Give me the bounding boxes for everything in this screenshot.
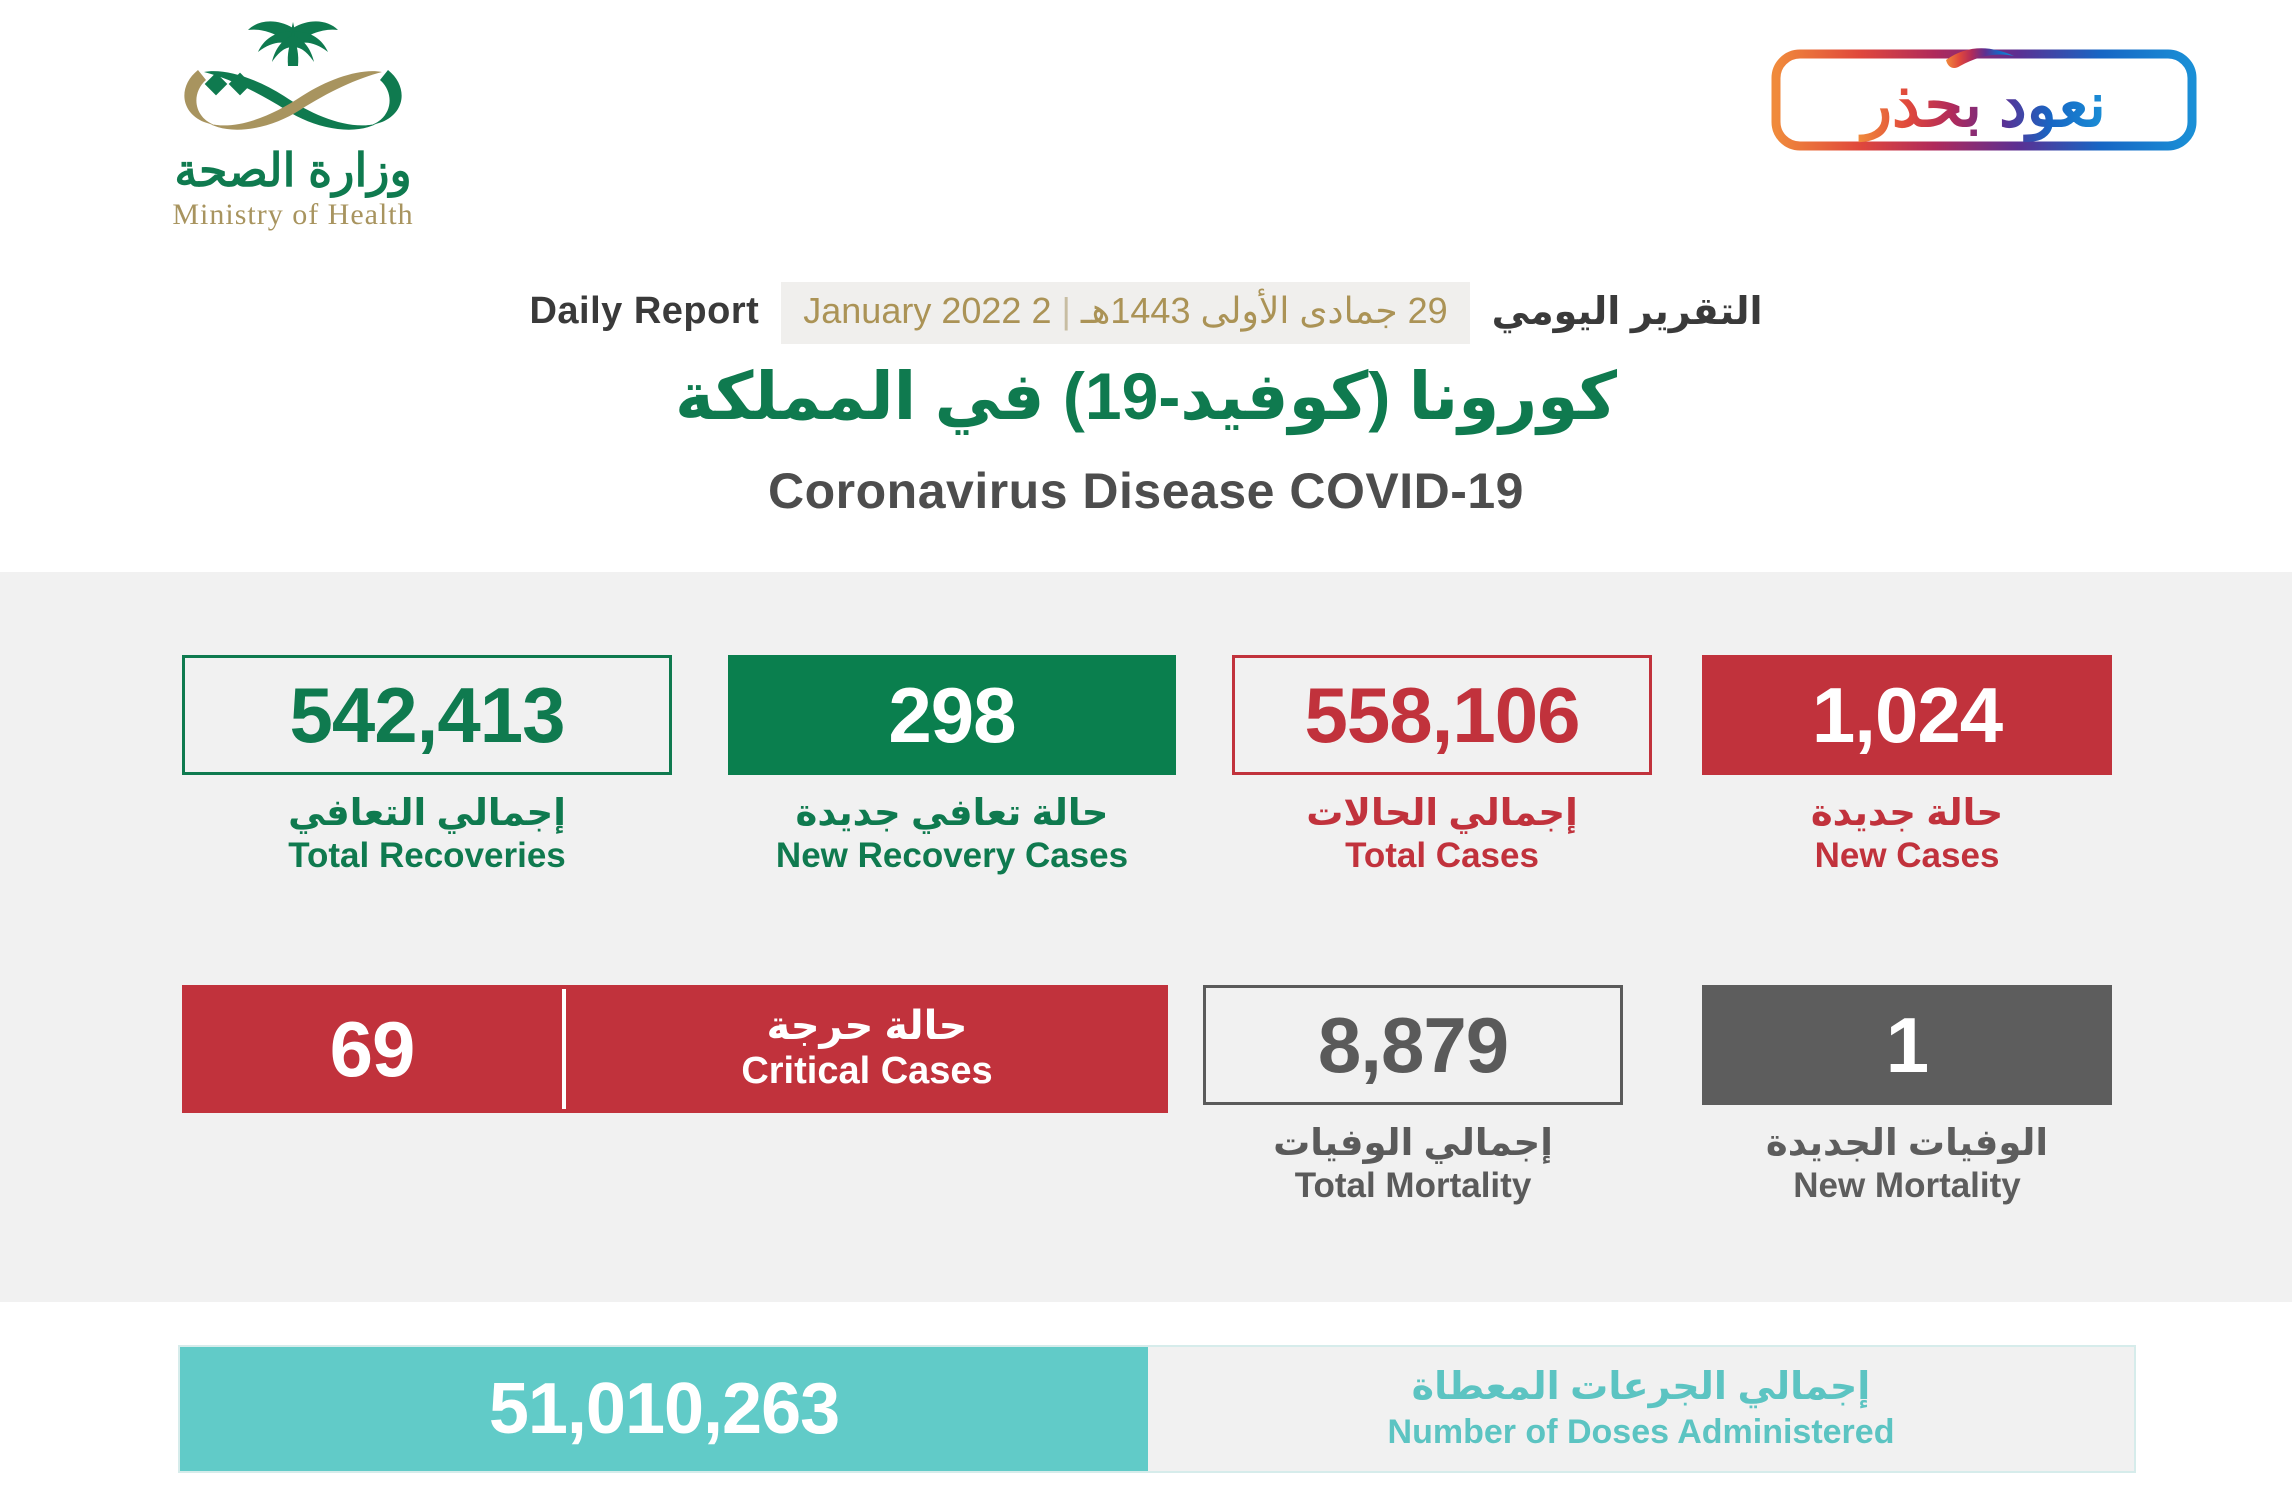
- critical-label-en: Critical Cases: [741, 1049, 992, 1095]
- stat-value-box: 558,106: [1232, 655, 1652, 775]
- stat-value-box: 298: [728, 655, 1176, 775]
- date-hijri: 29 جمادى الأولى 1443هـ: [1081, 290, 1448, 331]
- stat-label-en: Total Cases: [1232, 835, 1652, 876]
- doses-value: 51,010,263: [180, 1347, 1148, 1471]
- stat-labels: إجمالي الوفيات Total Mortality: [1203, 1121, 1623, 1206]
- palm-tree-icon: [248, 21, 338, 66]
- header: وزارة الصحة Ministry of Health: [0, 0, 2292, 572]
- naood-bihathar-logo: نعود بحذر: [1764, 22, 2204, 152]
- page-title-en: Coronavirus Disease COVID-19: [0, 462, 2292, 520]
- stat-label-ar: إجمالي الحالات: [1232, 791, 1652, 835]
- stat-value-box: 8,879: [1203, 985, 1623, 1105]
- stat-card-new-recovery-cases: 298 حالة تعافي جديدة New Recovery Cases: [728, 655, 1176, 876]
- stat-value-box: 542,413: [182, 655, 672, 775]
- campaign-logo-text: نعود بحذر: [1858, 71, 2106, 143]
- stat-label-ar: إجمالي الوفيات: [1203, 1121, 1623, 1165]
- stat-label-en: New Recovery Cases: [728, 835, 1176, 876]
- stat-value-box: 1,024: [1702, 655, 2112, 775]
- critical-value: 69: [182, 985, 562, 1113]
- doses-label-en: Number of Doses Administered: [1388, 1411, 1895, 1454]
- daily-report-label-ar: التقرير اليومي: [1470, 289, 1785, 338]
- stat-card-new-cases: 1,024 حالة جديدة New Cases: [1702, 655, 2112, 876]
- stat-labels: إجمالي التعافي Total Recoveries: [182, 791, 672, 876]
- ministry-logo-arabic: وزارة الصحة: [174, 144, 411, 198]
- critical-labels: حالة حرجة Critical Cases: [566, 985, 1168, 1113]
- date-gregorian: 2 January 2022: [803, 290, 1051, 331]
- doses-label-ar: إجمالي الجرعات المعطاة: [1412, 1365, 1871, 1411]
- page-title-ar: كورونا (كوفيد-19) في المملكة: [0, 355, 2292, 438]
- stat-value-box: 1: [1702, 985, 2112, 1105]
- stat-value: 298: [888, 676, 1015, 754]
- stat-card-new-mortality: 1 الوفيات الجديدة New Mortality: [1702, 985, 2112, 1206]
- stat-label-en: New Mortality: [1702, 1165, 2112, 1206]
- stat-card-total-recoveries: 542,413 إجمالي التعافي Total Recoveries: [182, 655, 672, 876]
- statistics-panel: 542,413 إجمالي التعافي Total Recoveries …: [0, 572, 2292, 1302]
- stat-value: 1: [1886, 1006, 1928, 1084]
- stat-labels: إجمالي الحالات Total Cases: [1232, 791, 1652, 876]
- report-date: 29 جمادى الأولى 1443هـ|2 January 2022: [781, 282, 1469, 344]
- ministry-of-health-logo: وزارة الصحة Ministry of Health: [108, 8, 478, 248]
- critical-label-ar: حالة حرجة: [766, 1003, 967, 1049]
- date-separator: |: [1051, 290, 1080, 331]
- ministry-logo-english: Ministry of Health: [172, 198, 413, 231]
- stat-card-total-cases: 558,106 إجمالي الحالات Total Cases: [1232, 655, 1652, 876]
- report-date-line: التقرير اليومي 29 جمادى الأولى 1443هـ|2 …: [0, 282, 2292, 344]
- crossed-swords-icon: [184, 70, 401, 130]
- stat-label-ar: حالة جديدة: [1702, 791, 2112, 835]
- stat-labels: حالة تعافي جديدة New Recovery Cases: [728, 791, 1176, 876]
- stat-label-en: Total Recoveries: [182, 835, 672, 876]
- daily-report-label-en: Daily Report: [507, 290, 781, 337]
- stat-labels: حالة جديدة New Cases: [1702, 791, 2112, 876]
- stat-value: 8,879: [1318, 1006, 1508, 1084]
- stat-label-en: New Cases: [1702, 835, 2112, 876]
- stat-value: 542,413: [290, 676, 565, 754]
- stat-label-ar: الوفيات الجديدة: [1702, 1121, 2112, 1165]
- stat-value: 558,106: [1305, 676, 1580, 754]
- stat-label-ar: حالة تعافي جديدة: [728, 791, 1176, 835]
- daily-report-infographic: وزارة الصحة Ministry of Health: [0, 0, 2292, 1500]
- stat-label-ar: إجمالي التعافي: [182, 791, 672, 835]
- stat-card-total-mortality: 8,879 إجمالي الوفيات Total Mortality: [1203, 985, 1623, 1206]
- doses-labels: إجمالي الجرعات المعطاة Number of Doses A…: [1148, 1347, 2134, 1471]
- stat-label-en: Total Mortality: [1203, 1165, 1623, 1206]
- stat-card-critical-cases: 69 حالة حرجة Critical Cases: [182, 985, 1168, 1113]
- stat-labels: الوفيات الجديدة New Mortality: [1702, 1121, 2112, 1206]
- doses-administered-bar: 51,010,263 إجمالي الجرعات المعطاة Number…: [178, 1345, 2136, 1473]
- stat-value: 1,024: [1812, 676, 2002, 754]
